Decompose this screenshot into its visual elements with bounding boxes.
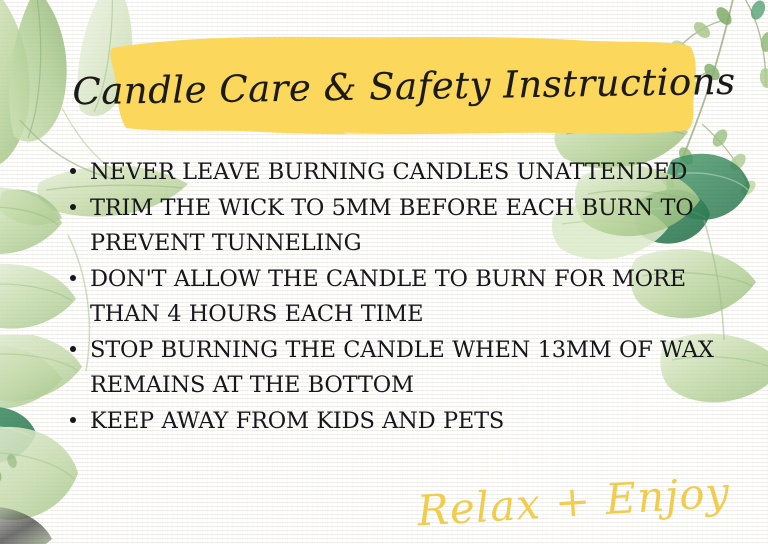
- list-item: Trim the wick to 5mm before each burn to…: [70, 191, 746, 261]
- bullet-icon: [70, 404, 90, 423]
- page-title: Candle Care & Safety Instructions: [103, 27, 705, 144]
- list-item-text: Stop burning the candle when 13mm of wax…: [90, 333, 746, 403]
- list-item: Keep away from kids and pets: [70, 404, 746, 439]
- candle-care-card: Candle Care & Safety Instructions Never …: [0, 0, 768, 544]
- signature-text: Relax + Enjoy: [416, 467, 732, 535]
- list-item-text: Don't allow the candle to burn for more …: [90, 262, 746, 332]
- list-item: Stop burning the candle when 13mm of wax…: [70, 333, 746, 403]
- bullet-icon: [70, 333, 90, 352]
- bullet-icon: [70, 262, 90, 281]
- title-banner: Candle Care & Safety Instructions: [104, 32, 704, 140]
- list-item-text: Trim the wick to 5mm before each burn to…: [90, 191, 746, 261]
- list-item-text: Never leave burning candles unattended: [90, 155, 746, 190]
- list-item: Never leave burning candles unattended: [70, 155, 746, 190]
- list-item-text: Keep away from kids and pets: [90, 404, 746, 439]
- list-item: Don't allow the candle to burn for more …: [70, 262, 746, 332]
- bullet-icon: [70, 155, 90, 174]
- instructions-list: Never leave burning candles unattended T…: [70, 155, 746, 440]
- bullet-icon: [70, 191, 90, 210]
